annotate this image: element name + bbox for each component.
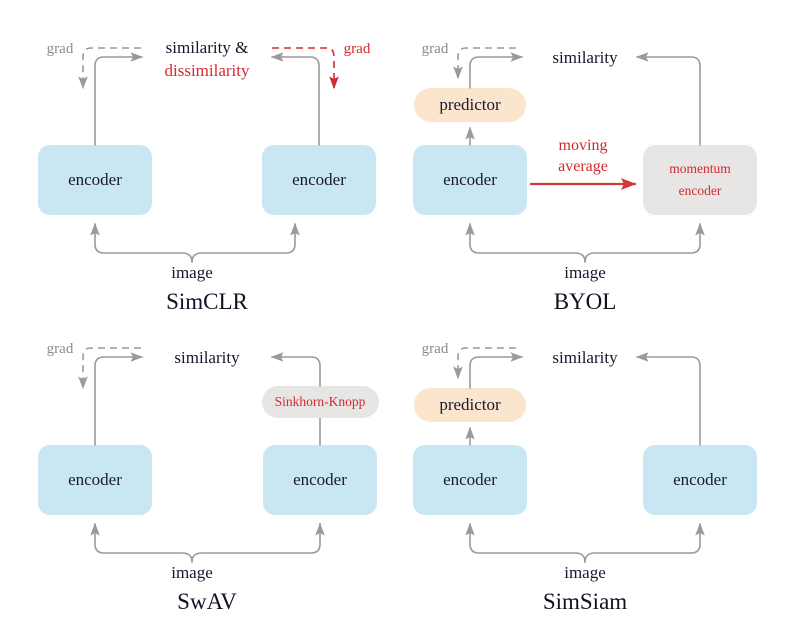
simsiam-encoder-right-label: encoder — [673, 470, 727, 489]
swav-input-label: image — [171, 563, 213, 582]
byol-input-bracket — [470, 224, 700, 262]
simclr-panel-title: SimCLR — [166, 289, 248, 314]
simclr-grad-right-label: grad — [344, 41, 371, 57]
swav-encoder-left[interactable]: encoder — [38, 445, 152, 515]
simclr-input-bracket — [95, 224, 295, 262]
byol-panel-title: BYOL — [554, 289, 617, 314]
architecture-comparison-figure: image encoder encoder grad grad similari… — [0, 0, 790, 636]
simclr-encoder-right[interactable]: encoder — [262, 145, 376, 215]
simclr-forward-right — [272, 57, 319, 145]
swav-input-bracket — [95, 524, 320, 562]
swav-encoder-right[interactable]: encoder — [263, 445, 377, 515]
byol-moving-average-line2: average — [558, 158, 608, 175]
swav-encoder-left-label: encoder — [68, 470, 122, 489]
simclr-objective-line2: dissimilarity — [165, 61, 251, 80]
swav-sinkhorn-knopp-label: Sinkhorn-Knopp — [275, 394, 366, 409]
byol-predictor[interactable]: predictor — [414, 88, 526, 122]
simsiam-predictor-label: predictor — [439, 395, 501, 414]
simsiam-grad-left: grad — [422, 341, 516, 378]
byol-grad-left: grad — [422, 41, 516, 78]
simclr-encoder-right-label: encoder — [292, 170, 346, 189]
swav-objective-line1: similarity — [174, 348, 240, 367]
simsiam-predictor[interactable]: predictor — [414, 388, 526, 422]
byol-forward-right — [637, 57, 700, 145]
simclr-encoder-left[interactable]: encoder — [38, 145, 152, 215]
simsiam-grad-left-label: grad — [422, 341, 449, 357]
diagram-canvas: image encoder encoder grad grad similari… — [0, 0, 790, 636]
simclr-forward-left — [95, 57, 142, 145]
byol-momentum-encoder[interactable]: momentum encoder — [643, 145, 757, 215]
byol-momentum-encoder-label-line2: encoder — [679, 183, 722, 198]
byol-predictor-label: predictor — [439, 95, 501, 114]
byol-moving-average-line1: moving — [559, 137, 608, 154]
swav-sinkhorn-knopp[interactable]: Sinkhorn-Knopp — [262, 386, 379, 418]
simclr-input-label: image — [171, 263, 213, 282]
simsiam-objective-line1: similarity — [552, 348, 618, 367]
simclr-grad-right: grad — [272, 41, 371, 88]
byol-input-label: image — [564, 263, 606, 282]
simsiam-encoder-left[interactable]: encoder — [413, 445, 527, 515]
swav-encoder-right-label: encoder — [293, 470, 347, 489]
simsiam-input-label: image — [564, 563, 606, 582]
byol-grad-left-label: grad — [422, 41, 449, 57]
byol-forward-left — [470, 57, 522, 88]
simsiam-encoder-right[interactable]: encoder — [643, 445, 757, 515]
simclr-grad-left-label: grad — [47, 41, 74, 57]
simclr-grad-left: grad — [47, 41, 141, 88]
simsiam-panel-title: SimSiam — [543, 589, 627, 614]
simsiam-forward-left — [470, 357, 522, 388]
panel-byol: image encoder predictor momentum encoder… — [413, 41, 757, 314]
byol-moving-average-arrow: moving average — [531, 137, 635, 184]
simsiam-forward-right — [637, 357, 700, 445]
panel-simclr: image encoder encoder grad grad similari… — [38, 38, 376, 314]
swav-forward-left — [95, 357, 142, 445]
swav-forward-right — [272, 357, 320, 386]
byol-encoder[interactable]: encoder — [413, 145, 527, 215]
byol-objective-line1: similarity — [552, 48, 618, 67]
swav-grad-left-label: grad — [47, 341, 74, 357]
panel-swav: image encoder encoder Sinkhorn-Knopp gra… — [38, 341, 379, 614]
simsiam-encoder-left-label: encoder — [443, 470, 497, 489]
simsiam-input-bracket — [470, 524, 700, 562]
swav-grad-left: grad — [47, 341, 141, 388]
simclr-encoder-left-label: encoder — [68, 170, 122, 189]
swav-panel-title: SwAV — [177, 589, 237, 614]
panel-simsiam: image encoder encoder predictor grad sim… — [413, 341, 757, 614]
simclr-objective-line1: similarity & — [166, 38, 249, 57]
byol-momentum-encoder-label-line1: momentum — [669, 161, 731, 176]
byol-encoder-label: encoder — [443, 170, 497, 189]
